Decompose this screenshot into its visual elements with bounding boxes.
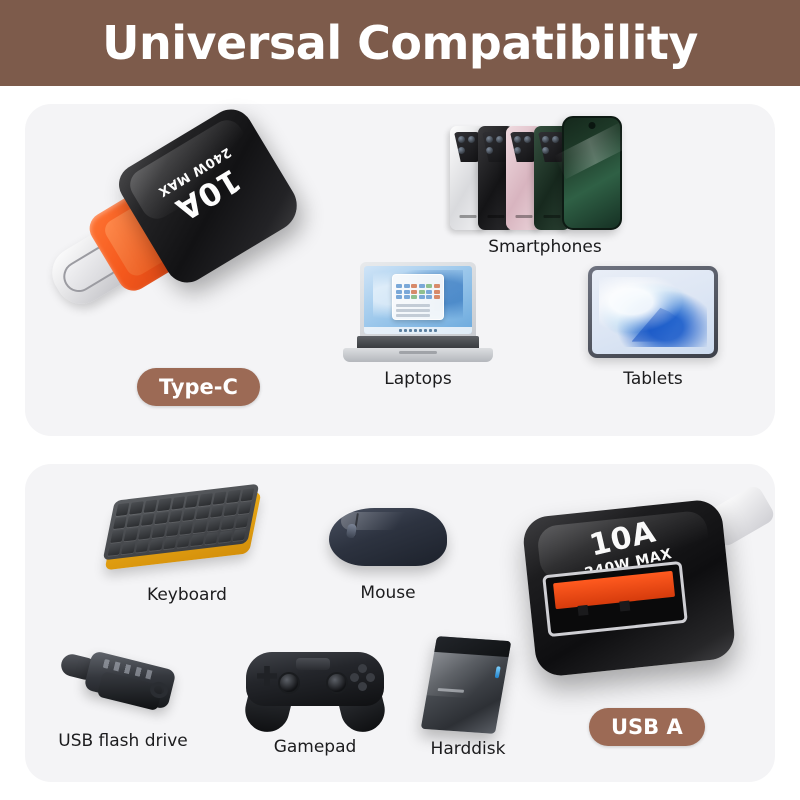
phone-brand-mark: [516, 215, 533, 218]
usb-a-adapter-illustration: 10A 240W MAX: [523, 490, 773, 705]
camera-module-icon: [454, 132, 480, 162]
tablet-screen: [592, 270, 714, 354]
device-label-keyboard: Keyboard: [147, 585, 227, 605]
left-analog-stick: [278, 672, 300, 694]
device-laptops: Laptops: [343, 262, 493, 389]
device-smartphones: Smartphones: [450, 112, 640, 257]
usb-a-port-tongue: [553, 571, 675, 609]
device-usb-flash-drive: USB flash drive: [53, 638, 193, 751]
right-analog-stick: [326, 672, 348, 694]
mouse-body: [329, 508, 447, 566]
phone-brand-mark: [488, 215, 505, 218]
device-label-tablets: Tablets: [623, 369, 682, 389]
device-gamepad: Gamepad: [240, 638, 390, 757]
device-mouse: Mouse: [323, 496, 453, 603]
laptop-screen: [364, 266, 472, 334]
header-banner: Universal Compatibility: [0, 0, 800, 86]
device-harddisk: Harddisk: [413, 632, 523, 759]
tablet-frame: [588, 266, 718, 358]
tablet-illustration: [588, 266, 718, 362]
type-c-adapter: 10A 240W MAX: [43, 124, 293, 354]
device-label-gamepad: Gamepad: [274, 737, 357, 757]
mouse-illustration: [323, 496, 453, 576]
laptop-keyboard: [357, 336, 479, 348]
device-label-usb-flash-drive: USB flash drive: [58, 731, 187, 751]
device-label-laptops: Laptops: [384, 369, 451, 389]
start-menu: [392, 274, 444, 320]
device-label-harddisk: Harddisk: [431, 739, 506, 759]
gamepad-illustration: [240, 638, 390, 730]
face-buttons: [350, 664, 376, 690]
device-tablets: Tablets: [588, 266, 718, 389]
device-label-smartphones: Smartphones: [488, 237, 601, 257]
camera-module-icon: [482, 132, 508, 162]
laptop-lid: [360, 262, 476, 338]
taskbar: [364, 327, 472, 334]
badge-type-c: Type-C: [137, 368, 260, 406]
phone-brand-mark: [460, 215, 477, 218]
phone-brand-mark: [544, 215, 561, 218]
start-menu-app-grid: [396, 284, 440, 299]
camera-module-icon: [510, 132, 536, 162]
gamepad-center-panel: [296, 658, 330, 670]
harddisk-body: [421, 636, 512, 734]
usb-a-adapter: 10A 240W MAX: [523, 490, 773, 705]
harddisk-illustration: [413, 632, 523, 732]
tablet-wallpaper: [599, 277, 706, 348]
phone-front-screen: [562, 116, 622, 230]
badge-usb-a: USB A: [589, 708, 705, 746]
laptop-illustration: [343, 262, 493, 362]
laptop-base: [343, 348, 493, 362]
usb-flash-drive-illustration: [53, 638, 193, 724]
start-menu-recommended: [396, 304, 440, 317]
product-infographic: Universal Compatibility 10A 240W MAX: [0, 0, 800, 800]
mouse-scroll-wheel: [346, 523, 357, 538]
type-c-adapter-illustration: 10A 240W MAX: [43, 124, 293, 354]
device-label-mouse: Mouse: [360, 583, 415, 603]
keyboard-illustration: [107, 478, 267, 578]
smartphones-illustration: [450, 112, 640, 230]
device-keyboard: Keyboard: [107, 478, 267, 605]
page-title: Universal Compatibility: [102, 16, 698, 70]
